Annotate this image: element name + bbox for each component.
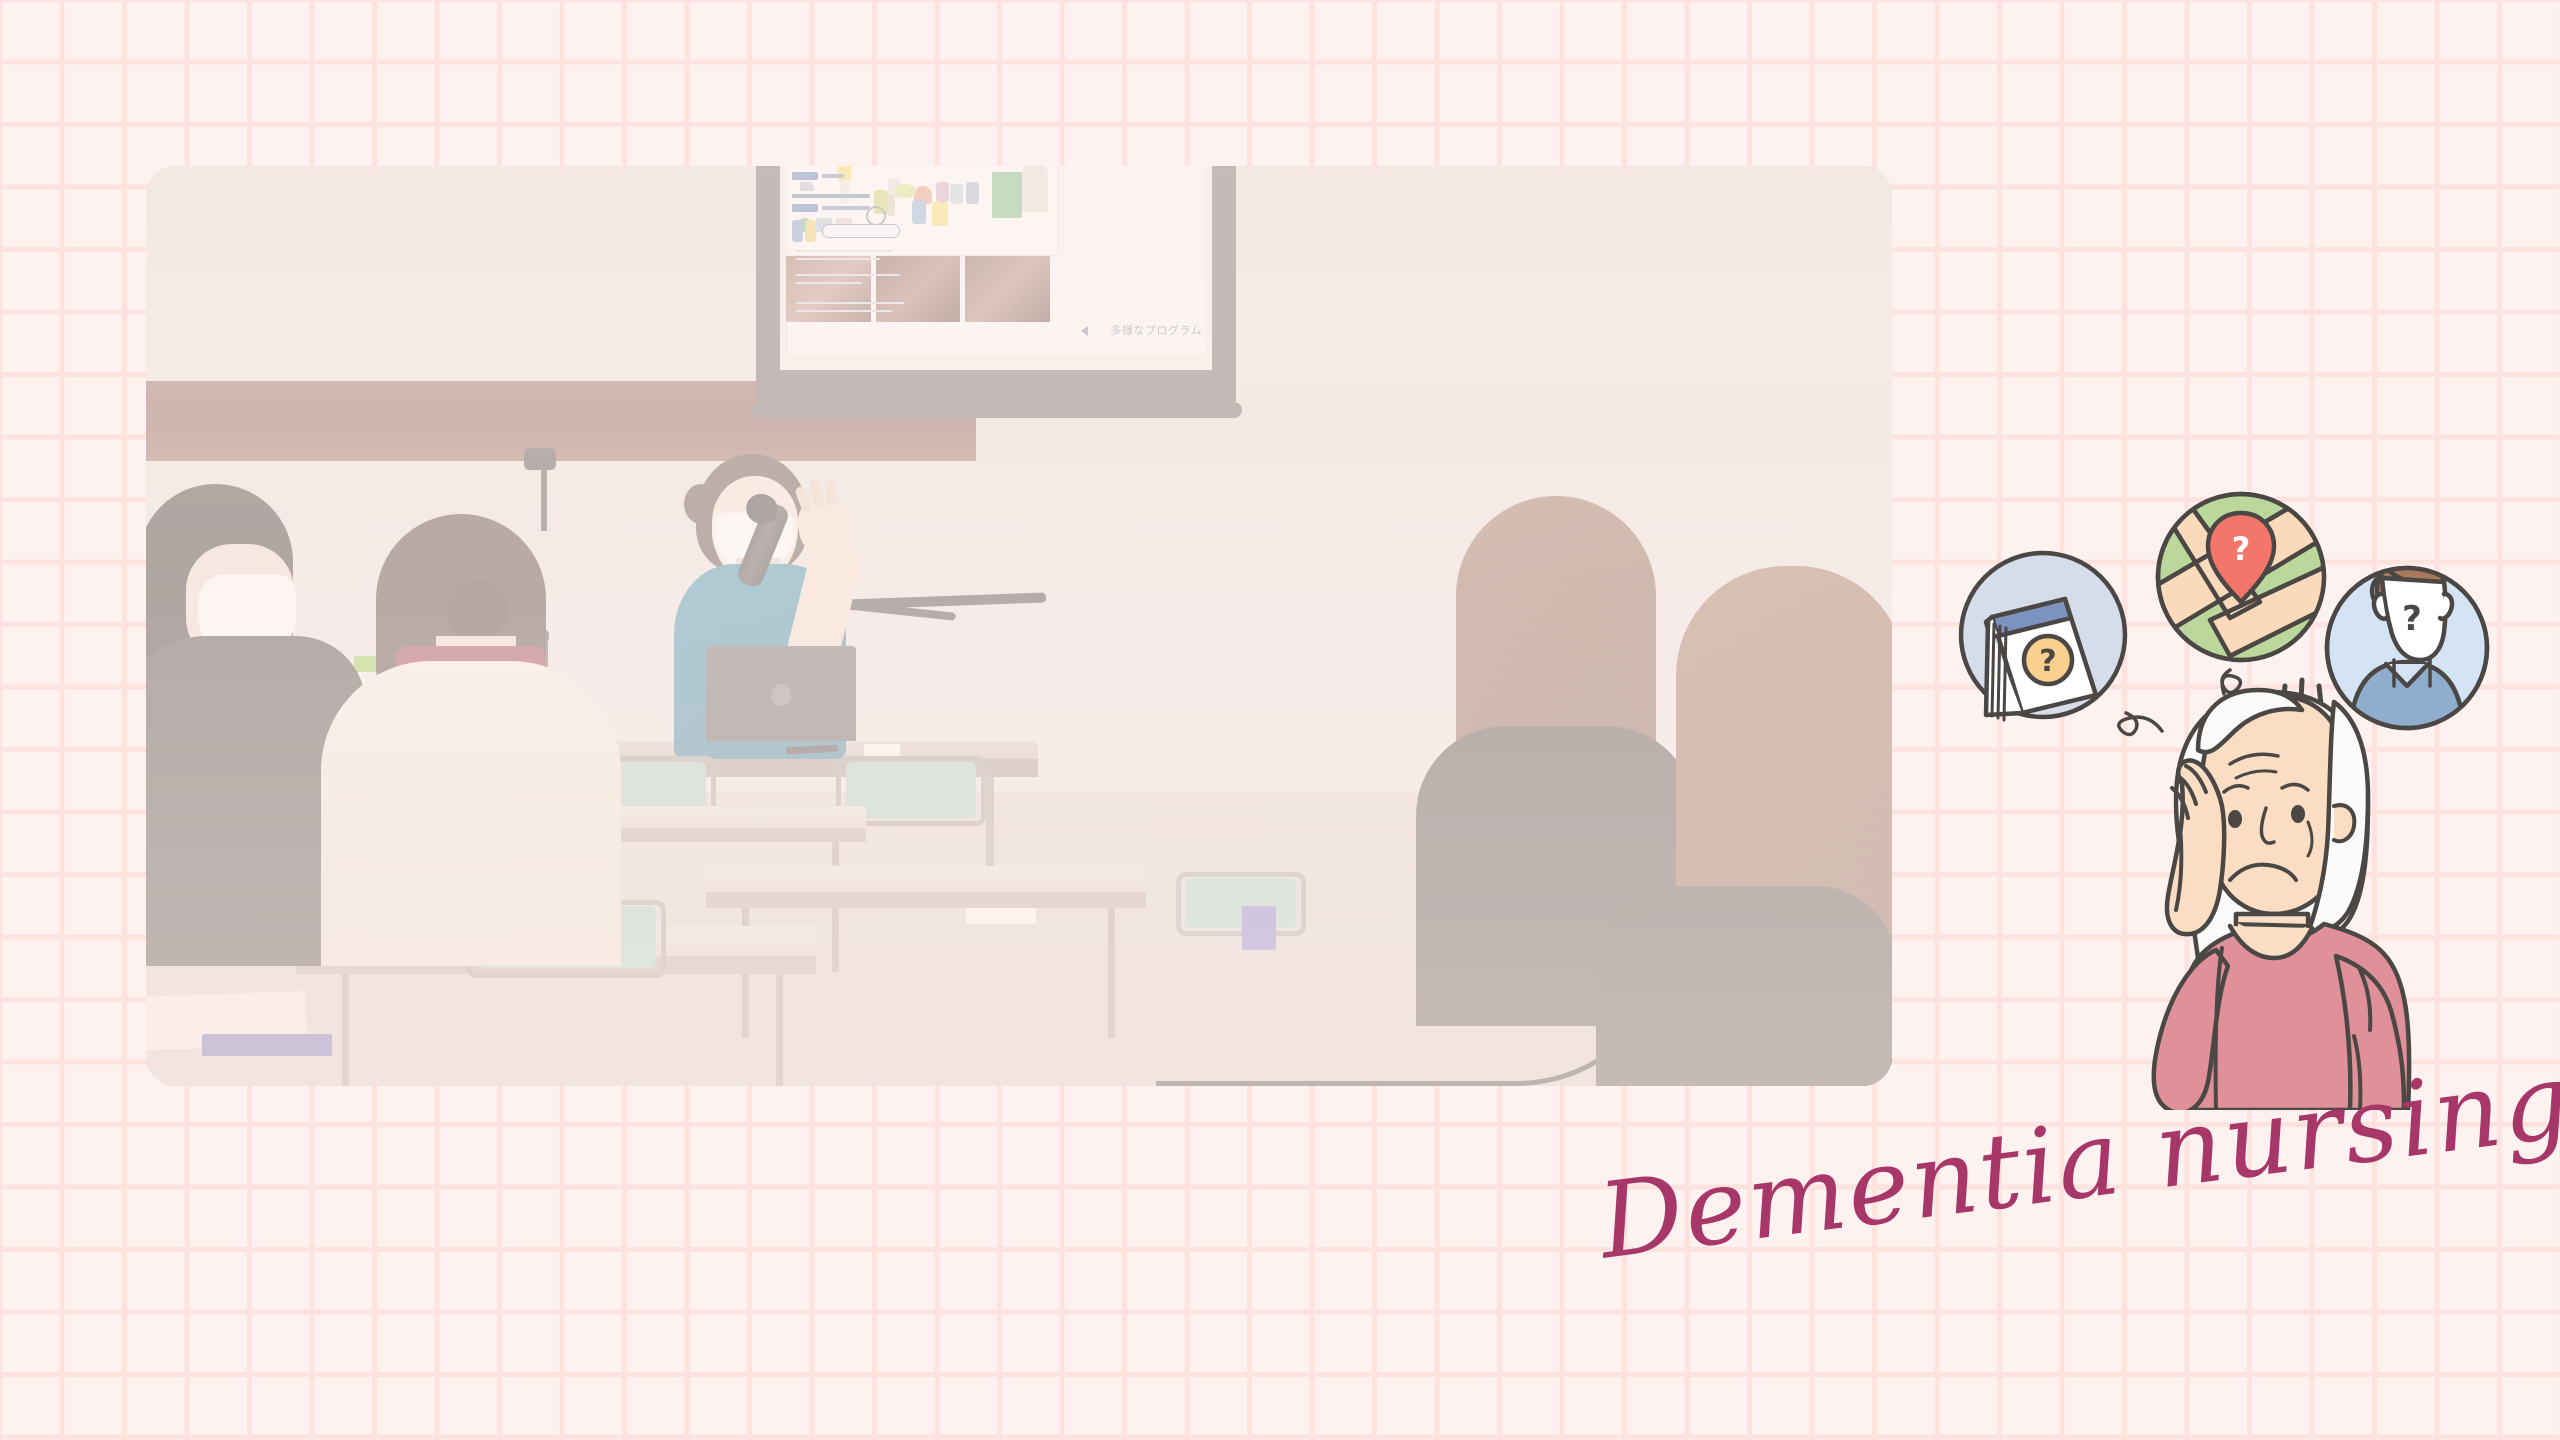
slide-figure [894, 184, 916, 198]
attendee-cardigan [321, 661, 621, 966]
svg-text:?: ? [2402, 599, 2422, 639]
handout [966, 908, 1036, 924]
table-edge [706, 892, 1146, 908]
attendee-body [1596, 886, 1892, 1086]
slide-figure [800, 182, 814, 191]
mic-stand [541, 461, 547, 531]
presentation-slide: 多様なプログラム [786, 166, 1206, 354]
slide-tag [792, 204, 818, 212]
slide-figure [805, 220, 816, 242]
slide-text-line [796, 258, 880, 260]
table-leg [342, 974, 349, 1086]
map-bubble: ? [2152, 484, 2354, 694]
svg-text:?: ? [2039, 644, 2056, 679]
binder [1242, 906, 1276, 950]
left-arrow-icon [1081, 326, 1088, 336]
slide-tag [792, 172, 818, 180]
slide-photo [965, 256, 1050, 322]
slide-pill [822, 224, 900, 238]
table-leg [776, 974, 783, 1086]
table-leg [1108, 908, 1115, 1038]
slide-text-line [796, 250, 892, 252]
laptop-logo [771, 684, 791, 706]
slide-photo-strip [786, 256, 1050, 322]
projection-screen-roller [750, 402, 1242, 418]
slide-figure [966, 182, 979, 204]
chair-frame [1176, 872, 1306, 936]
attendee-hair-bun [446, 581, 508, 639]
slide-text-line [796, 274, 900, 276]
slide-text-line [796, 282, 862, 284]
slide-text-line [822, 174, 844, 178]
slide-text-line [822, 206, 870, 210]
slide-figure [792, 220, 803, 242]
desk-paper [864, 744, 900, 756]
binder [202, 1034, 332, 1056]
wall-speaker [524, 448, 556, 470]
slide-text-line [792, 194, 870, 198]
slide-green-card [992, 172, 1022, 218]
slide-text-line [796, 310, 892, 312]
calendar-bubble: ? [1961, 553, 2162, 735]
slide-text-column [786, 322, 912, 354]
slide-illustration-panel [786, 166, 1058, 256]
seminar-photo: 多様なプログラム [146, 166, 1892, 1086]
photo-scene: 多様なプログラム [146, 166, 1892, 1086]
dementia-illustration: ? [1930, 470, 2500, 1110]
slide-footer-text: 多様なプログラム [1110, 322, 1202, 338]
slide-photo [876, 256, 961, 322]
slide-statue [1022, 166, 1048, 212]
slide-figure [840, 180, 849, 204]
slide-figure [950, 184, 963, 204]
slide-text-line [796, 302, 904, 304]
elderly-woman [2154, 690, 2409, 1110]
slide-figure [932, 202, 948, 226]
slide-figure [936, 182, 949, 202]
slide-photo [786, 256, 871, 322]
page-canvas: 多様なプログラム [0, 0, 2560, 1440]
svg-text:?: ? [2232, 530, 2251, 568]
slide-figure [912, 200, 926, 224]
